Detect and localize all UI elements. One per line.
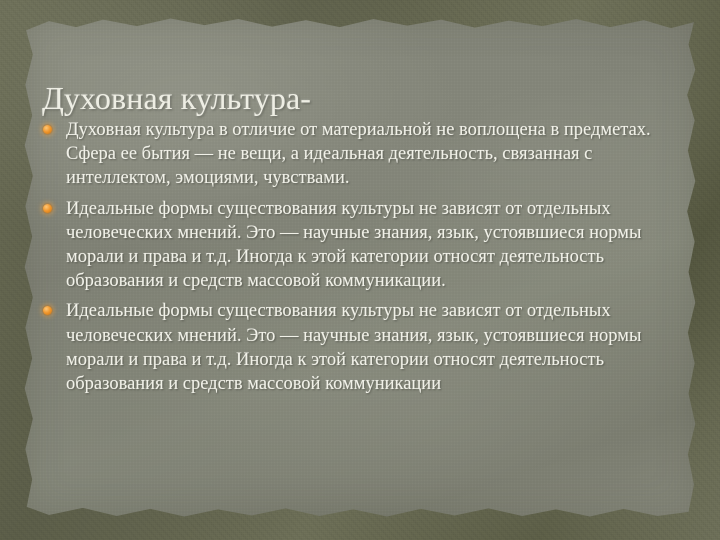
- slide-content: Духовная культура- Духовная культура в о…: [0, 0, 720, 540]
- bullet-dot-icon: [43, 125, 52, 134]
- bullet-text: Идеальные формы существования культуры н…: [66, 197, 690, 294]
- bullet-list: Духовная культура в отличие от материаль…: [36, 118, 690, 396]
- presentation-slide: Духовная культура- Духовная культура в о…: [0, 0, 720, 540]
- slide-title: Духовная культура-: [42, 79, 662, 117]
- bullet-text: Духовная культура в отличие от материаль…: [66, 118, 690, 191]
- bullet-dot-icon: [43, 306, 52, 315]
- bullet-list-item: Идеальные формы существования культуры н…: [36, 299, 690, 396]
- bullet-list-item: Идеальные формы существования культуры н…: [36, 197, 690, 294]
- bullet-list-item: Духовная культура в отличие от материаль…: [36, 118, 690, 191]
- bullet-text: Идеальные формы существования культуры н…: [66, 299, 690, 396]
- bullet-dot-icon: [43, 204, 52, 213]
